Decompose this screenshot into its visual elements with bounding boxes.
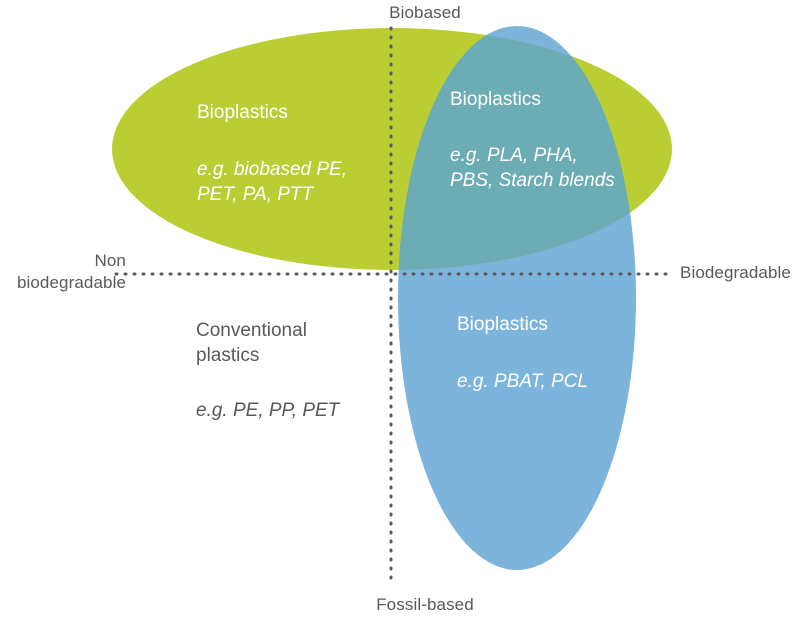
region-examples-fossil-based-biodegradable: e.g. PBAT, PCL	[457, 369, 588, 394]
region-title-conventional-plastics: Conventional plastics	[196, 318, 307, 368]
region-examples-conventional-plastics: e.g. PE, PP, PET	[196, 398, 339, 423]
axis-label-non-biodegradable: Non biodegradable	[4, 250, 126, 294]
axis-label-fossil-based: Fossil-based	[345, 594, 505, 616]
axis-label-biobased: Biobased	[355, 2, 495, 24]
region-title-biobased-non-biodegradable: Bioplastics	[197, 101, 288, 125]
region-title-fossil-based-biodegradable: Bioplastics	[457, 313, 548, 337]
diagram-canvas: Biobased Fossil-based Non biodegradable …	[0, 0, 804, 622]
region-examples-biobased-biodegradable: e.g. PLA, PHA, PBS, Starch blends	[450, 143, 615, 193]
region-title-biobased-biodegradable: Bioplastics	[450, 88, 541, 112]
venn-diagram-graphic	[0, 0, 804, 622]
region-examples-biobased-non-biodegradable: e.g. biobased PE, PET, PA, PTT	[197, 157, 347, 207]
axis-label-biodegradable: Biodegradable	[680, 262, 804, 284]
